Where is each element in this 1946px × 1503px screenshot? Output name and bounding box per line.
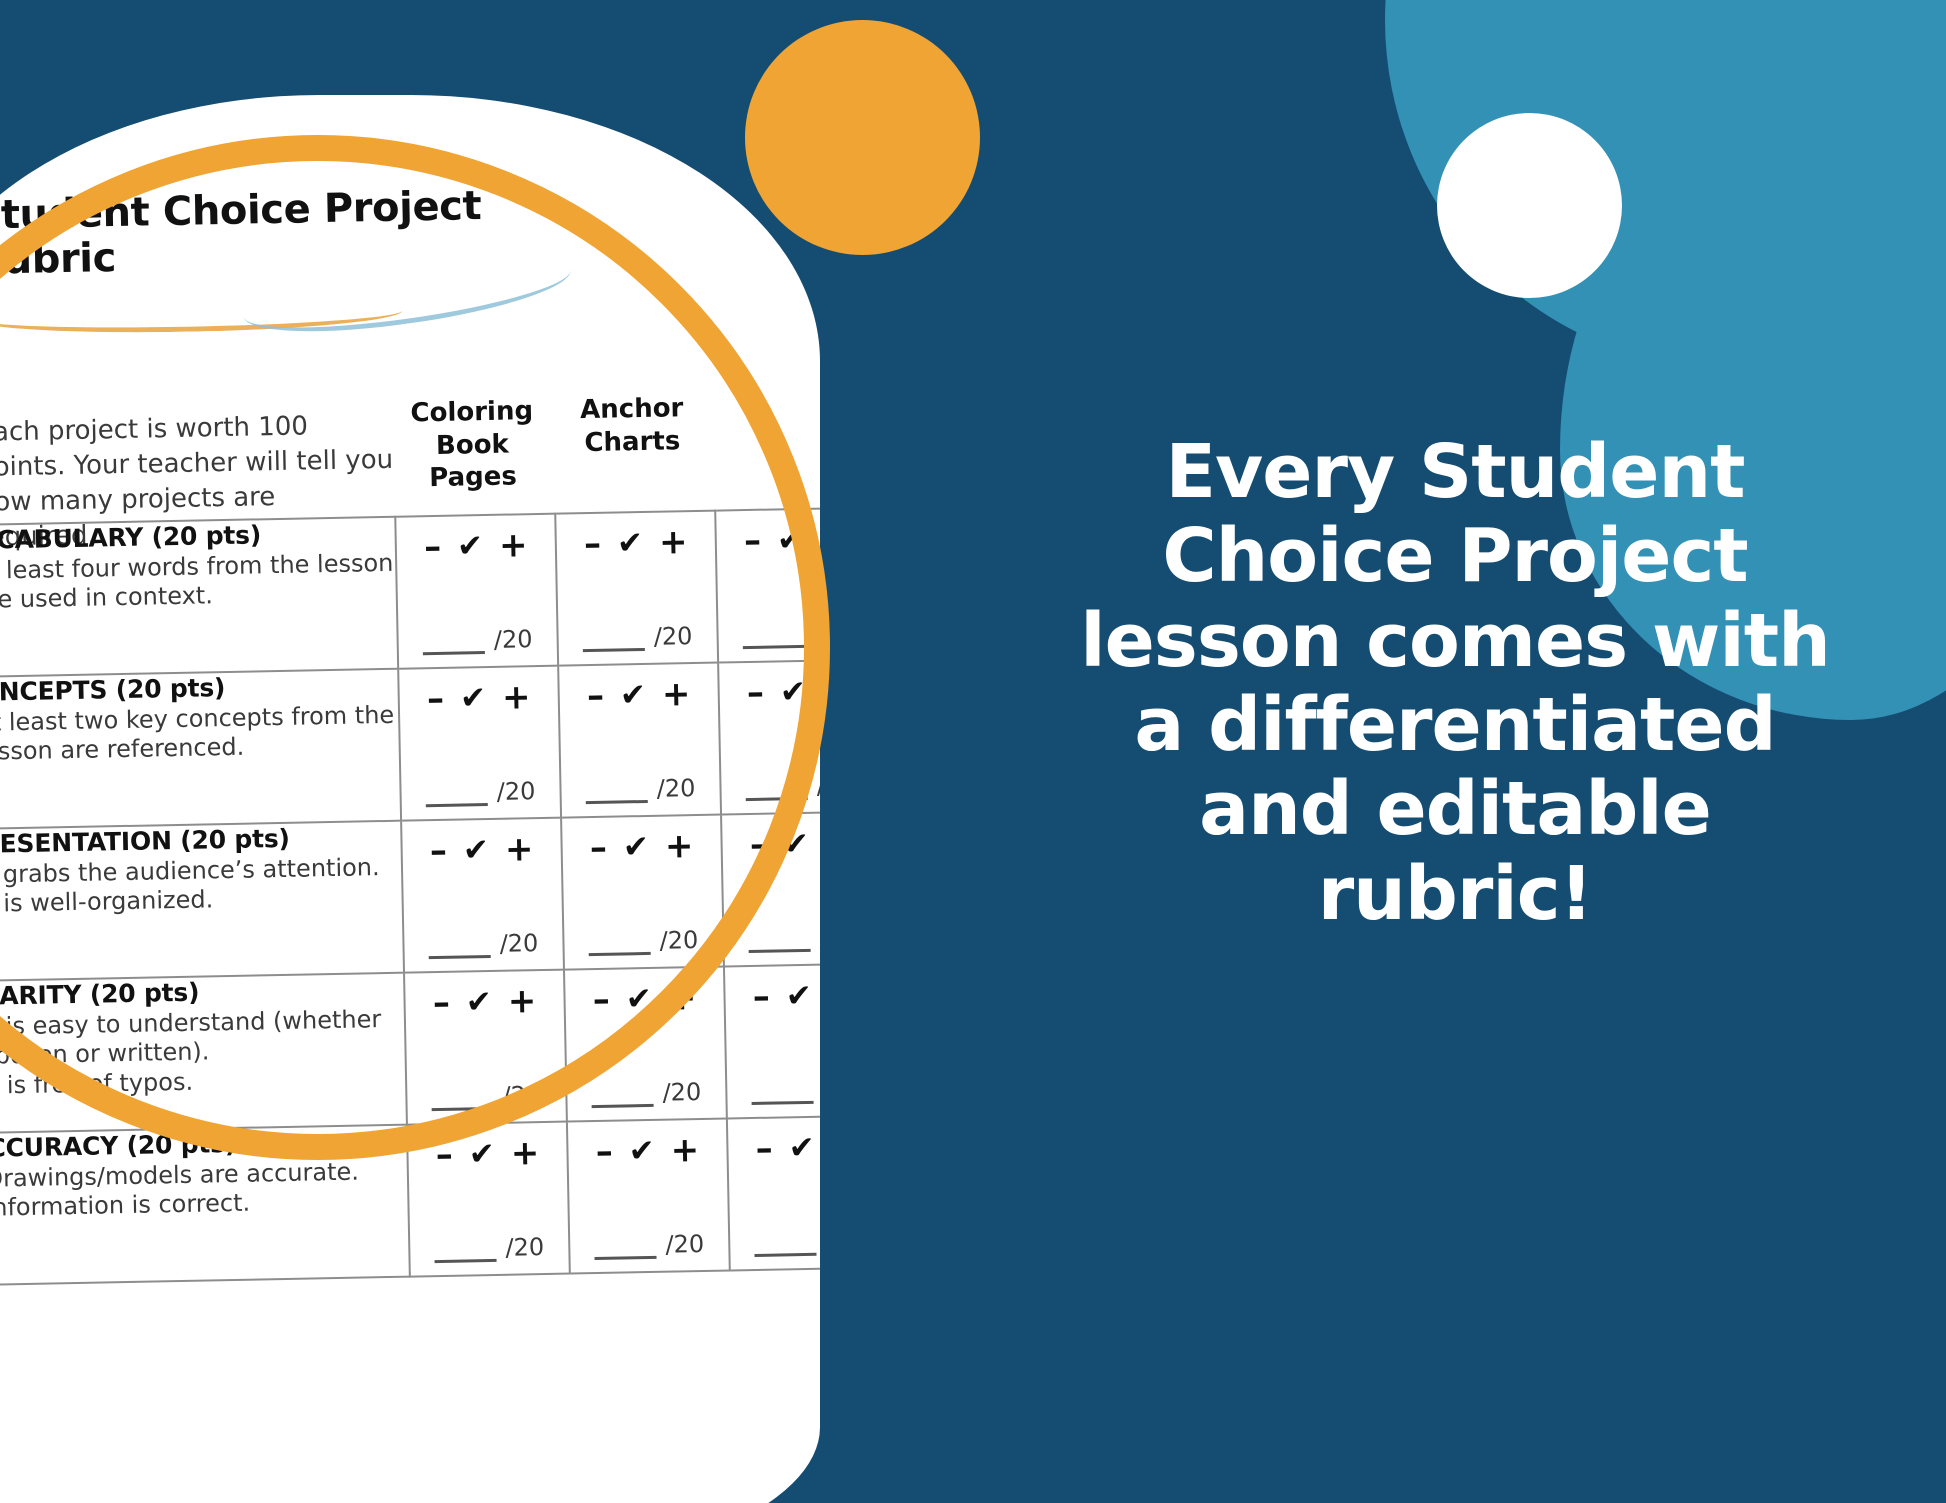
minus-icon[interactable]: – bbox=[756, 1138, 773, 1159]
minus-icon[interactable]: – bbox=[436, 1145, 453, 1166]
score-denominator: /20 bbox=[816, 771, 820, 800]
minus-icon[interactable]: – bbox=[430, 841, 447, 862]
table-row: CONCEPTS (20 pts)-At least two key conce… bbox=[0, 660, 820, 830]
check-icon[interactable]: ✔ bbox=[783, 826, 810, 862]
table-row: VOCABULARY (20 pts)-At least four words … bbox=[0, 508, 820, 678]
check-icon[interactable]: ✔ bbox=[628, 1133, 655, 1169]
check-icon[interactable]: ✔ bbox=[785, 978, 812, 1014]
column-header-third bbox=[714, 389, 820, 392]
score-blank[interactable]: /20 bbox=[407, 1081, 566, 1112]
score-cell[interactable]: –✔+/20 bbox=[395, 514, 558, 669]
rating-marks: –✔+ bbox=[408, 1133, 567, 1176]
score-blank[interactable]: /20 bbox=[570, 1229, 729, 1260]
score-cell[interactable]: –✔+/20 bbox=[721, 811, 820, 966]
check-icon[interactable]: ✔ bbox=[457, 528, 484, 564]
rating-marks: –✔+ bbox=[716, 519, 820, 562]
plus-icon[interactable]: + bbox=[659, 522, 688, 563]
score-input-line[interactable] bbox=[746, 780, 808, 801]
rating-marks: –✔+ bbox=[396, 525, 555, 568]
check-icon[interactable]: ✔ bbox=[460, 680, 487, 716]
score-cell-inner: –✔+/20 bbox=[559, 664, 720, 817]
table-row: ACCURACY (20 pts)-Drawings/models are ac… bbox=[0, 1115, 820, 1285]
score-cell-inner: –✔+/20 bbox=[562, 816, 723, 969]
plus-icon[interactable]: + bbox=[664, 826, 693, 867]
promo-graphic: Student Choice Project Rubric Each proje… bbox=[0, 0, 1946, 1503]
table-row: CLARITY (20 pts)-It is easy to understan… bbox=[0, 963, 820, 1133]
score-blank[interactable]: /20 bbox=[730, 1226, 820, 1257]
plus-icon[interactable]: + bbox=[505, 829, 534, 870]
score-cell[interactable]: –✔+/20 bbox=[407, 1122, 570, 1277]
check-icon[interactable]: ✔ bbox=[777, 522, 804, 558]
criterion-bullet: -Information is correct. bbox=[0, 1186, 408, 1224]
score-blank[interactable]: /20 bbox=[410, 1233, 569, 1264]
score-cell-inner: –✔+/20 bbox=[396, 515, 557, 668]
score-cell-inner: –✔+/20 bbox=[719, 661, 820, 814]
criterion-bullet: -It is well-organized. bbox=[0, 882, 402, 920]
score-cell-inner: –✔+/20 bbox=[716, 509, 820, 662]
score-input-line[interactable] bbox=[754, 1236, 816, 1257]
score-denominator: /20 bbox=[819, 923, 820, 952]
score-blank[interactable]: /20 bbox=[727, 1074, 820, 1105]
score-input-line[interactable] bbox=[426, 786, 488, 807]
score-cell[interactable]: –✔+/20 bbox=[724, 963, 820, 1118]
score-cell-inner: –✔+/20 bbox=[408, 1123, 569, 1276]
check-icon[interactable]: ✔ bbox=[623, 829, 650, 865]
criterion-bullet: -It is free of typos. bbox=[0, 1063, 405, 1101]
criterion-cell: PRESENTATION (20 pts)-It grabs the audie… bbox=[0, 821, 404, 981]
score-denominator: /20 bbox=[494, 625, 533, 654]
rating-marks: –✔+ bbox=[399, 677, 558, 720]
score-cell-inner: –✔+/20 bbox=[402, 819, 563, 972]
criterion-bullet-text: At least four words from the lesson are … bbox=[0, 549, 396, 616]
score-denominator: /20 bbox=[502, 1081, 541, 1110]
plus-icon[interactable]: + bbox=[670, 1130, 699, 1171]
rating-marks: –✔+ bbox=[728, 1126, 820, 1169]
check-icon[interactable]: ✔ bbox=[620, 677, 647, 713]
column-header-anchor-charts: Anchor Charts bbox=[554, 392, 710, 460]
minus-icon[interactable]: – bbox=[590, 838, 607, 859]
score-input-line[interactable] bbox=[743, 628, 805, 649]
score-input-line[interactable] bbox=[429, 938, 491, 959]
score-blank[interactable]: /20 bbox=[724, 922, 820, 953]
score-cell-inner: –✔+/20 bbox=[725, 964, 820, 1117]
rating-marks: –✔+ bbox=[719, 671, 820, 714]
criterion-bullet-text: It is easy to understand (whether spoken… bbox=[0, 1005, 405, 1072]
score-cell-inner: –✔+/20 bbox=[568, 1120, 729, 1273]
score-cell[interactable]: –✔+/20 bbox=[404, 970, 567, 1125]
check-icon[interactable]: ✔ bbox=[466, 984, 493, 1020]
score-input-line[interactable] bbox=[751, 1084, 813, 1105]
rating-marks: –✔+ bbox=[565, 978, 724, 1021]
score-blank[interactable]: /20 bbox=[721, 770, 820, 801]
minus-icon[interactable]: – bbox=[744, 531, 761, 552]
score-denominator: /20 bbox=[496, 777, 535, 806]
score-input-line[interactable] bbox=[591, 1087, 653, 1108]
criterion-bullet-text: It is free of typos. bbox=[0, 1063, 405, 1100]
criterion-bullet-text: It is well-organized. bbox=[0, 882, 402, 919]
column-header-coloring-book-pages: Coloring Book Pages bbox=[394, 395, 551, 495]
criterion-cell: CONCEPTS (20 pts)-At least two key conce… bbox=[0, 669, 401, 829]
score-denominator: /20 bbox=[654, 622, 693, 651]
minus-icon[interactable]: – bbox=[747, 682, 764, 703]
check-icon[interactable]: ✔ bbox=[788, 1130, 815, 1166]
score-denominator: /20 bbox=[499, 929, 538, 958]
table-row: PRESENTATION (20 pts)-It grabs the audie… bbox=[0, 811, 820, 981]
score-blank[interactable]: /20 bbox=[567, 1078, 726, 1109]
score-cell[interactable]: –✔+/20 bbox=[727, 1115, 820, 1270]
check-icon[interactable]: ✔ bbox=[617, 525, 644, 561]
score-input-line[interactable] bbox=[586, 783, 648, 804]
score-denominator: /20 bbox=[814, 619, 820, 648]
plus-icon[interactable]: + bbox=[502, 677, 531, 718]
rating-marks: –✔+ bbox=[405, 981, 564, 1024]
criterion-cell: CLARITY (20 pts)-It is easy to understan… bbox=[0, 973, 407, 1133]
rating-marks: –✔+ bbox=[562, 826, 721, 869]
minus-icon[interactable]: – bbox=[433, 993, 450, 1014]
score-cell-inner: –✔+/20 bbox=[405, 971, 566, 1124]
rating-marks: –✔+ bbox=[722, 822, 820, 865]
score-denominator: /20 bbox=[659, 926, 698, 955]
plus-icon[interactable]: + bbox=[507, 981, 536, 1022]
criterion-bullet: -At least four words from the lesson are… bbox=[0, 549, 396, 616]
criterion-cell: VOCABULARY (20 pts)-At least four words … bbox=[0, 517, 398, 677]
score-denominator: /20 bbox=[656, 774, 695, 803]
minus-icon[interactable]: – bbox=[750, 834, 767, 855]
score-input-line[interactable] bbox=[589, 935, 651, 956]
score-denominator: /20 bbox=[505, 1233, 544, 1262]
score-cell[interactable]: –✔+/20 bbox=[401, 818, 564, 973]
document-panel: Student Choice Project Rubric Each proje… bbox=[0, 95, 820, 1503]
score-input-line[interactable] bbox=[431, 1090, 493, 1111]
minus-icon[interactable]: – bbox=[596, 1141, 613, 1162]
criterion-bullet-text: At least two key concepts from the lesso… bbox=[0, 701, 399, 768]
rubric-document: Student Choice Project Rubric Each proje… bbox=[0, 176, 820, 285]
score-cell[interactable]: –✔+/20 bbox=[561, 815, 724, 970]
score-cell[interactable]: –✔+/20 bbox=[564, 967, 727, 1122]
rating-marks: –✔+ bbox=[568, 1130, 727, 1173]
score-cell-inner: –✔+/20 bbox=[722, 812, 820, 965]
plus-icon[interactable]: + bbox=[662, 674, 691, 715]
score-input-line[interactable] bbox=[583, 631, 645, 652]
score-denominator: /20 bbox=[665, 1230, 704, 1259]
minus-icon[interactable]: – bbox=[424, 537, 441, 558]
score-cell-inner: –✔+/20 bbox=[565, 968, 726, 1121]
rating-marks: –✔+ bbox=[725, 974, 820, 1017]
rating-marks: –✔+ bbox=[559, 674, 718, 717]
white-circle-decoration bbox=[1437, 113, 1622, 298]
check-icon[interactable]: ✔ bbox=[463, 832, 490, 868]
score-input-line[interactable] bbox=[434, 1242, 496, 1263]
score-blank[interactable]: /20 bbox=[398, 625, 557, 656]
criterion-bullet: -At least two key concepts from the less… bbox=[0, 701, 399, 768]
score-input-line[interactable] bbox=[423, 634, 485, 655]
minus-icon[interactable]: – bbox=[427, 689, 444, 710]
score-cell[interactable]: –✔+/20 bbox=[398, 666, 561, 821]
plus-icon[interactable]: + bbox=[667, 978, 696, 1019]
check-icon[interactable]: ✔ bbox=[780, 674, 807, 710]
score-cell-inner: –✔+/20 bbox=[556, 512, 717, 665]
score-cell-inner: –✔+/20 bbox=[728, 1116, 820, 1269]
score-cell[interactable]: –✔+/20 bbox=[558, 663, 721, 818]
check-icon[interactable]: ✔ bbox=[625, 981, 652, 1017]
score-denominator: /20 bbox=[662, 1078, 701, 1107]
score-cell[interactable]: –✔+/20 bbox=[718, 660, 820, 815]
score-input-line[interactable] bbox=[749, 932, 811, 953]
score-blank[interactable]: /20 bbox=[558, 622, 717, 653]
minus-icon[interactable]: – bbox=[593, 990, 610, 1011]
score-blank[interactable]: /20 bbox=[561, 774, 720, 805]
check-icon[interactable]: ✔ bbox=[468, 1136, 495, 1172]
plus-icon[interactable]: + bbox=[499, 525, 528, 566]
score-blank[interactable]: /20 bbox=[404, 929, 563, 960]
score-cell[interactable]: –✔+/20 bbox=[555, 511, 718, 666]
minus-icon[interactable]: – bbox=[584, 534, 601, 555]
minus-icon[interactable]: – bbox=[587, 686, 604, 707]
score-blank[interactable]: /20 bbox=[401, 777, 560, 808]
minus-icon[interactable]: – bbox=[753, 986, 770, 1007]
rating-marks: –✔+ bbox=[402, 829, 561, 872]
score-input-line[interactable] bbox=[594, 1239, 656, 1260]
plus-icon[interactable]: + bbox=[819, 519, 820, 560]
criterion-cell: ACCURACY (20 pts)-Drawings/models are ac… bbox=[0, 1125, 410, 1285]
rating-marks: –✔+ bbox=[556, 522, 715, 565]
score-blank[interactable]: /20 bbox=[564, 926, 723, 957]
plus-icon[interactable]: + bbox=[510, 1133, 539, 1174]
score-blank[interactable]: /20 bbox=[718, 619, 820, 650]
headline-text: Every Student Choice Project lesson come… bbox=[1075, 430, 1835, 936]
score-cell[interactable]: –✔+/20 bbox=[715, 508, 820, 663]
rubric-table: VOCABULARY (20 pts)-At least four words … bbox=[0, 507, 820, 1287]
score-cell-inner: –✔+/20 bbox=[399, 667, 560, 820]
score-cell[interactable]: –✔+/20 bbox=[567, 1118, 730, 1273]
criterion-bullet: -It is easy to understand (whether spoke… bbox=[0, 1005, 405, 1072]
